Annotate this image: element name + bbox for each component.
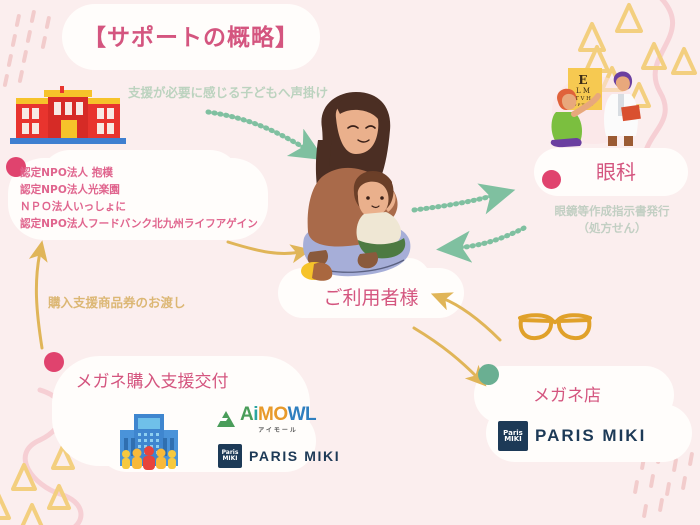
arrow-npo-to-user-gold — [228, 242, 300, 254]
mother-and-child-icon — [292, 88, 418, 278]
ganka-sublabel-line1: 眼鏡等作成指示書発行 — [528, 203, 696, 220]
arrow-koufu-to-npo — [36, 252, 42, 348]
paris-miki-mark-icon: Paris MIKI — [218, 444, 242, 468]
caption-shouhinken: 購入支援商品券のお渡し — [48, 292, 186, 311]
koufu-label: メガネ購入支援交付 — [52, 367, 252, 392]
npo-list-item: 認定NPO法人フードバンク北九州ライフアゲイン — [20, 216, 290, 233]
megane-ten-label: メガネ店 — [492, 381, 642, 406]
paris-miki-mark-icon: Paris MIKI — [498, 421, 528, 451]
aimowl-letters-mo: MO — [258, 404, 288, 425]
ganka-sublabel-line2: （処方せん） — [528, 220, 696, 237]
npo-list: 認定NPO法人 抱樸 認定NPO法人光楽園 ＮＰＯ法人いっしょに 認定NPO法人… — [20, 165, 290, 233]
infographic-canvas: E L M T V H O P T E D — [0, 0, 700, 525]
eye-exam-icon: E L M T V H O P T E D — [542, 62, 646, 148]
aimowl-reading: アイモール — [240, 425, 316, 434]
paris-miki-logo-left: Paris MIKI PARIS MIKI — [218, 444, 340, 468]
arrow-user-to-ganka — [414, 195, 496, 210]
arrow-user-to-meganeten — [414, 328, 478, 378]
paris-miki-mark-bottom: MIKI — [222, 456, 239, 462]
aimowl-letter-a: A — [240, 404, 253, 425]
caption-koegake: 支援が必要に感じる子どもへ声掛け — [128, 82, 328, 101]
aimowl-logo: AiMOWL アイモール — [216, 404, 316, 434]
school-building-icon — [10, 86, 126, 144]
arrow-ganka-to-user — [456, 228, 524, 248]
aimowl-mark-icon — [216, 410, 236, 428]
paris-miki-mark-bottom: MIKI — [503, 436, 523, 442]
svg-text:E: E — [578, 73, 587, 87]
city-hall-icon — [114, 408, 184, 470]
aimowl-letters-wl: WL — [288, 404, 317, 425]
npo-list-item: ＮＰＯ法人いっしょに — [20, 199, 290, 216]
shoe-icon — [300, 258, 334, 284]
paris-miki-name: PARIS MIKI — [535, 426, 646, 446]
npo-list-item: 認定NPO法人 抱樸 — [20, 165, 290, 182]
svg-text:L M: L M — [576, 87, 590, 95]
ganka-label: 眼科 — [556, 156, 676, 185]
paris-miki-logo-right: Paris MIKI PARIS MIKI — [498, 421, 646, 451]
page-title: 【サポートの概略】 — [62, 18, 320, 52]
paris-miki-name: PARIS MIKI — [249, 448, 340, 464]
user-label: ご利用者様 — [278, 283, 464, 310]
eyeglasses-icon — [516, 312, 594, 342]
ganka-sublabel: 眼鏡等作成指示書発行 （処方せん） — [528, 203, 696, 237]
npo-list-item: 認定NPO法人光楽園 — [20, 182, 290, 199]
